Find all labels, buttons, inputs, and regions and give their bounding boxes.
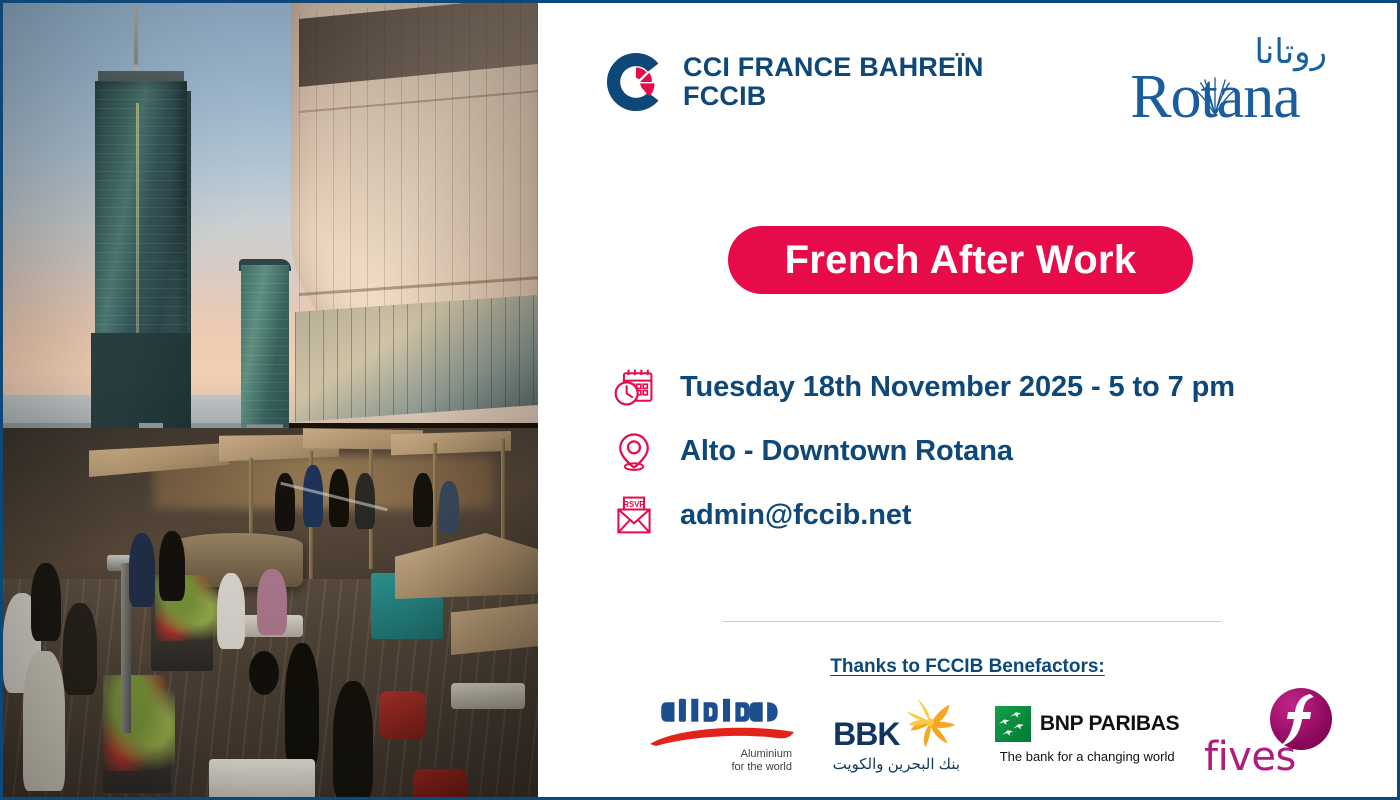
alba-wordmark-icon bbox=[656, 697, 790, 727]
terrace-guest bbox=[275, 473, 295, 531]
cci-monogram-icon bbox=[603, 49, 669, 115]
terrace-guest bbox=[129, 533, 155, 607]
content-panel: CCI FRANCE BAHREÏN FCCIB روتانا Rotana bbox=[538, 3, 1397, 797]
red-armchair bbox=[379, 691, 425, 739]
calendar-clock-icon bbox=[610, 363, 658, 411]
fives-wordmark: fives bbox=[1204, 734, 1296, 780]
event-details: Tuesday 18th November 2025 - 5 to 7 pm A… bbox=[610, 355, 1370, 547]
logo-row: CCI FRANCE BAHREÏN FCCIB روتانا Rotana bbox=[538, 33, 1397, 143]
detail-text-date: Tuesday 18th November 2025 - 5 to 7 pm bbox=[680, 371, 1235, 404]
awning-pole bbox=[433, 443, 437, 561]
benefactor-logo-alba: Aluminium for the world bbox=[648, 697, 798, 773]
bnp-green-square-icon bbox=[995, 706, 1031, 742]
terrace-guest bbox=[31, 563, 61, 641]
terrace-guest bbox=[159, 531, 185, 601]
bbk-arabic-text: بنك البحرين والكويت bbox=[833, 755, 960, 773]
cci-logo-line2: FCCIB bbox=[683, 82, 984, 111]
benefactors-heading: Thanks to FCCIB Benefactors: bbox=[538, 656, 1397, 678]
bbk-mark-row: BBK bbox=[833, 697, 959, 753]
terrace-guest bbox=[23, 651, 65, 791]
rotana-wordmark-text: Rotana bbox=[1130, 63, 1300, 131]
benefactor-logo-bnp-paribas: BNP PARIBAS The bank for a changing worl… bbox=[995, 706, 1180, 764]
benefactor-logo-fives: fives bbox=[1198, 688, 1338, 782]
detail-text-location: Alto - Downtown Rotana bbox=[680, 435, 1013, 468]
rsvp-envelope-icon: RSVP bbox=[610, 491, 658, 539]
benefactor-logo-strip: Aluminium for the world BBK bbox=[648, 685, 1338, 785]
alba-tagline-line2: for the world bbox=[648, 761, 792, 774]
hero-photo bbox=[3, 3, 538, 797]
rotana-logo: روتانا Rotana bbox=[1095, 35, 1335, 130]
building-glass-band bbox=[295, 294, 538, 422]
alba-tagline: Aluminium for the world bbox=[648, 748, 798, 773]
terrace-guest bbox=[257, 569, 287, 635]
red-armchair bbox=[413, 769, 467, 797]
detail-text-rsvp: admin@fccib.net bbox=[680, 499, 911, 532]
event-title: French After Work bbox=[785, 238, 1137, 283]
alba-swoosh-icon bbox=[648, 725, 798, 747]
dining-table bbox=[451, 683, 525, 709]
detail-row-date: Tuesday 18th November 2025 - 5 to 7 pm bbox=[610, 355, 1370, 419]
awning-pole bbox=[501, 439, 505, 549]
bnp-mark-row: BNP PARIBAS bbox=[995, 706, 1179, 742]
cci-logo-line1: CCI FRANCE BAHREÏN bbox=[683, 53, 984, 82]
detail-row-rsvp: RSVP admin@fccib.net bbox=[610, 483, 1370, 547]
detail-row-location: Alto - Downtown Rotana bbox=[610, 419, 1370, 483]
bbk-wordmark: BBK bbox=[833, 716, 899, 753]
terrace-guest bbox=[333, 681, 373, 797]
terrace-guest bbox=[285, 643, 319, 767]
event-title-pill: French After Work bbox=[728, 226, 1193, 294]
bnp-wordmark: BNP PARIBAS bbox=[1040, 712, 1179, 736]
svg-text:RSVP: RSVP bbox=[623, 500, 644, 509]
terrace-guest bbox=[439, 481, 459, 533]
location-pin-icon bbox=[610, 427, 658, 475]
planter-foliage bbox=[103, 675, 175, 771]
terrace-guest bbox=[303, 465, 323, 527]
rotana-wordmark: Rotana bbox=[1095, 65, 1335, 130]
benefactor-logo-bbk: BBK bbox=[816, 697, 976, 773]
bbk-flower-icon bbox=[903, 697, 959, 751]
section-divider bbox=[723, 621, 1221, 622]
terrace-guest bbox=[63, 603, 97, 695]
bnp-tagline: The bank for a changing world bbox=[1000, 749, 1175, 764]
terrace-guest bbox=[249, 651, 279, 695]
cci-france-bahrein-logo: CCI FRANCE BAHREÏN FCCIB bbox=[603, 49, 984, 115]
terrace-guest bbox=[413, 473, 433, 527]
event-poster: CCI FRANCE BAHREÏN FCCIB روتانا Rotana bbox=[0, 0, 1400, 800]
dining-table bbox=[209, 759, 315, 797]
alba-tagline-line1: Aluminium bbox=[648, 748, 792, 761]
cci-logo-text: CCI FRANCE BAHREÏN FCCIB bbox=[683, 53, 984, 111]
terrace-guest bbox=[217, 573, 245, 649]
